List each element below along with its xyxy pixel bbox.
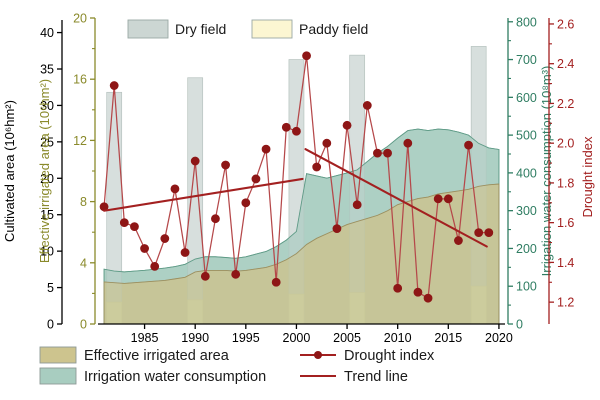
drought-index-marker	[313, 163, 321, 171]
axis-tick-label-drought_index: 2.4	[557, 57, 574, 71]
chart-canvas: 1985199019952000200520102015202005101520…	[0, 0, 600, 400]
x-axis-tick-label: 2005	[333, 331, 361, 345]
drought-index-marker	[333, 225, 341, 233]
drought-index-marker	[272, 278, 280, 286]
drought-index-marker	[282, 123, 290, 131]
axis-tick-label-cultivated_area: 35	[40, 63, 54, 77]
drought-index-marker	[171, 185, 179, 193]
x-axis-tick-label: 1990	[181, 331, 209, 345]
legend-label-paddy-field: Paddy field	[299, 21, 368, 37]
legend-label-dry-field: Dry field	[175, 21, 226, 37]
legend-label-drought-index: Drought index	[344, 348, 435, 364]
axis-tick-label-drought_index: 1.4	[557, 256, 574, 270]
legend-label-irrigation-water-consumption: Irrigation water consumption	[84, 369, 266, 385]
drought-index-marker	[404, 139, 412, 147]
drought-index-marker	[434, 195, 442, 203]
x-axis-tick-label: 1985	[131, 331, 159, 345]
axis-tick-label-effective_irrigated_area: 12	[73, 134, 87, 148]
axis-tick-label-cultivated_area: 40	[40, 26, 54, 40]
drought-index-marker	[140, 244, 148, 252]
x-axis-tick-label: 2000	[283, 331, 311, 345]
axis-tick-label-drought_index: 1.2	[557, 296, 574, 310]
x-axis-tick-label: 2020	[485, 331, 513, 345]
axis-tick-label-cultivated_area: 5	[47, 281, 54, 295]
axis-tick-label-irrigation_water_consumption: 600	[516, 91, 537, 105]
legend-swatch-paddy-field	[252, 20, 292, 38]
legend-label-effective-irrigated-area: Effective irrigated area	[84, 348, 230, 364]
x-axis-tick-label: 1995	[232, 331, 260, 345]
drought-index-marker	[130, 223, 138, 231]
axis-tick-label-irrigation_water_consumption: 800	[516, 15, 537, 29]
drought-index-marker	[232, 270, 240, 278]
drought-index-marker	[242, 199, 250, 207]
axis-tick-label-irrigation_water_consumption: 300	[516, 204, 537, 218]
drought-index-marker	[262, 145, 270, 153]
drought-index-marker	[353, 201, 361, 209]
drought-index-marker	[323, 139, 331, 147]
drought-index-marker	[373, 149, 381, 157]
axis-tick-label-irrigation_water_consumption: 200	[516, 242, 537, 256]
axis-tick-label-irrigation_water_consumption: 500	[516, 129, 537, 143]
drought-index-marker	[475, 229, 483, 237]
legend-swatch-dry-field	[128, 20, 168, 38]
drought-index-marker	[454, 236, 462, 244]
x-axis-tick-label: 2015	[434, 331, 462, 345]
drought-index-marker	[161, 234, 169, 242]
legend-marker-drought-index	[314, 351, 322, 359]
drought-index-marker	[110, 81, 118, 89]
drought-index-marker	[221, 161, 229, 169]
drought-index-marker	[464, 141, 472, 149]
drought-index-marker	[414, 288, 422, 296]
axis-tick-label-irrigation_water_consumption: 100	[516, 280, 537, 294]
drought-index-marker	[485, 229, 493, 237]
drought-index-marker	[252, 175, 260, 183]
drought-index-marker	[120, 219, 128, 227]
axis-title-drought_index: Drought index	[580, 136, 595, 217]
drought-index-marker	[363, 101, 371, 109]
axis-tick-label-drought_index: 1.6	[557, 216, 574, 230]
drought-index-marker	[444, 195, 452, 203]
drought-index-marker	[211, 215, 219, 223]
drought-index-marker	[343, 121, 351, 129]
axis-tick-label-effective_irrigated_area: 16	[73, 73, 87, 87]
drought-index-marker	[302, 52, 310, 60]
axis-tick-label-irrigation_water_consumption: 700	[516, 53, 537, 67]
drought-index-marker	[201, 272, 209, 280]
axis-tick-label-cultivated_area: 0	[47, 318, 54, 332]
axis-tick-label-drought_index: 2.2	[557, 97, 574, 111]
drought-index-marker	[424, 294, 432, 302]
legend-label-trend-line: Trend line	[344, 369, 408, 385]
drought-index-marker	[394, 284, 402, 292]
axis-title-effective_irrigated_area: Effective irrigated area (10⁶hm²)	[37, 79, 52, 263]
axis-tick-label-drought_index: 1.8	[557, 176, 574, 190]
axis-tick-label-effective_irrigated_area: 8	[80, 195, 87, 209]
drought-index-marker	[191, 157, 199, 165]
drought-index-marker	[292, 127, 300, 135]
legend-swatch-irrigation-water-consumption	[40, 368, 76, 384]
drought-index-marker	[383, 149, 391, 157]
chart-figure: 1985199019952000200520102015202005101520…	[0, 0, 600, 400]
axis-tick-label-irrigation_water_consumption: 0	[516, 318, 523, 332]
axis-tick-label-effective_irrigated_area: 0	[80, 318, 87, 332]
drought-index-marker	[151, 262, 159, 270]
axis-title-cultivated_area: Cultivated area (10⁶hm²)	[2, 100, 17, 242]
axis-tick-label-effective_irrigated_area: 4	[80, 256, 87, 270]
axis-tick-label-irrigation_water_consumption: 400	[516, 166, 537, 180]
axis-tick-label-effective_irrigated_area: 20	[73, 12, 87, 26]
axis-title-irrigation_water_consumption: Irrigation water consumption (10⁸m³)	[539, 66, 554, 277]
x-axis-tick-label: 2010	[384, 331, 412, 345]
axis-tick-label-drought_index: 2.6	[557, 17, 574, 31]
legend-swatch-effective-irrigated-area	[40, 347, 76, 363]
drought-index-marker	[181, 248, 189, 256]
axis-tick-label-drought_index: 2.0	[557, 137, 574, 151]
